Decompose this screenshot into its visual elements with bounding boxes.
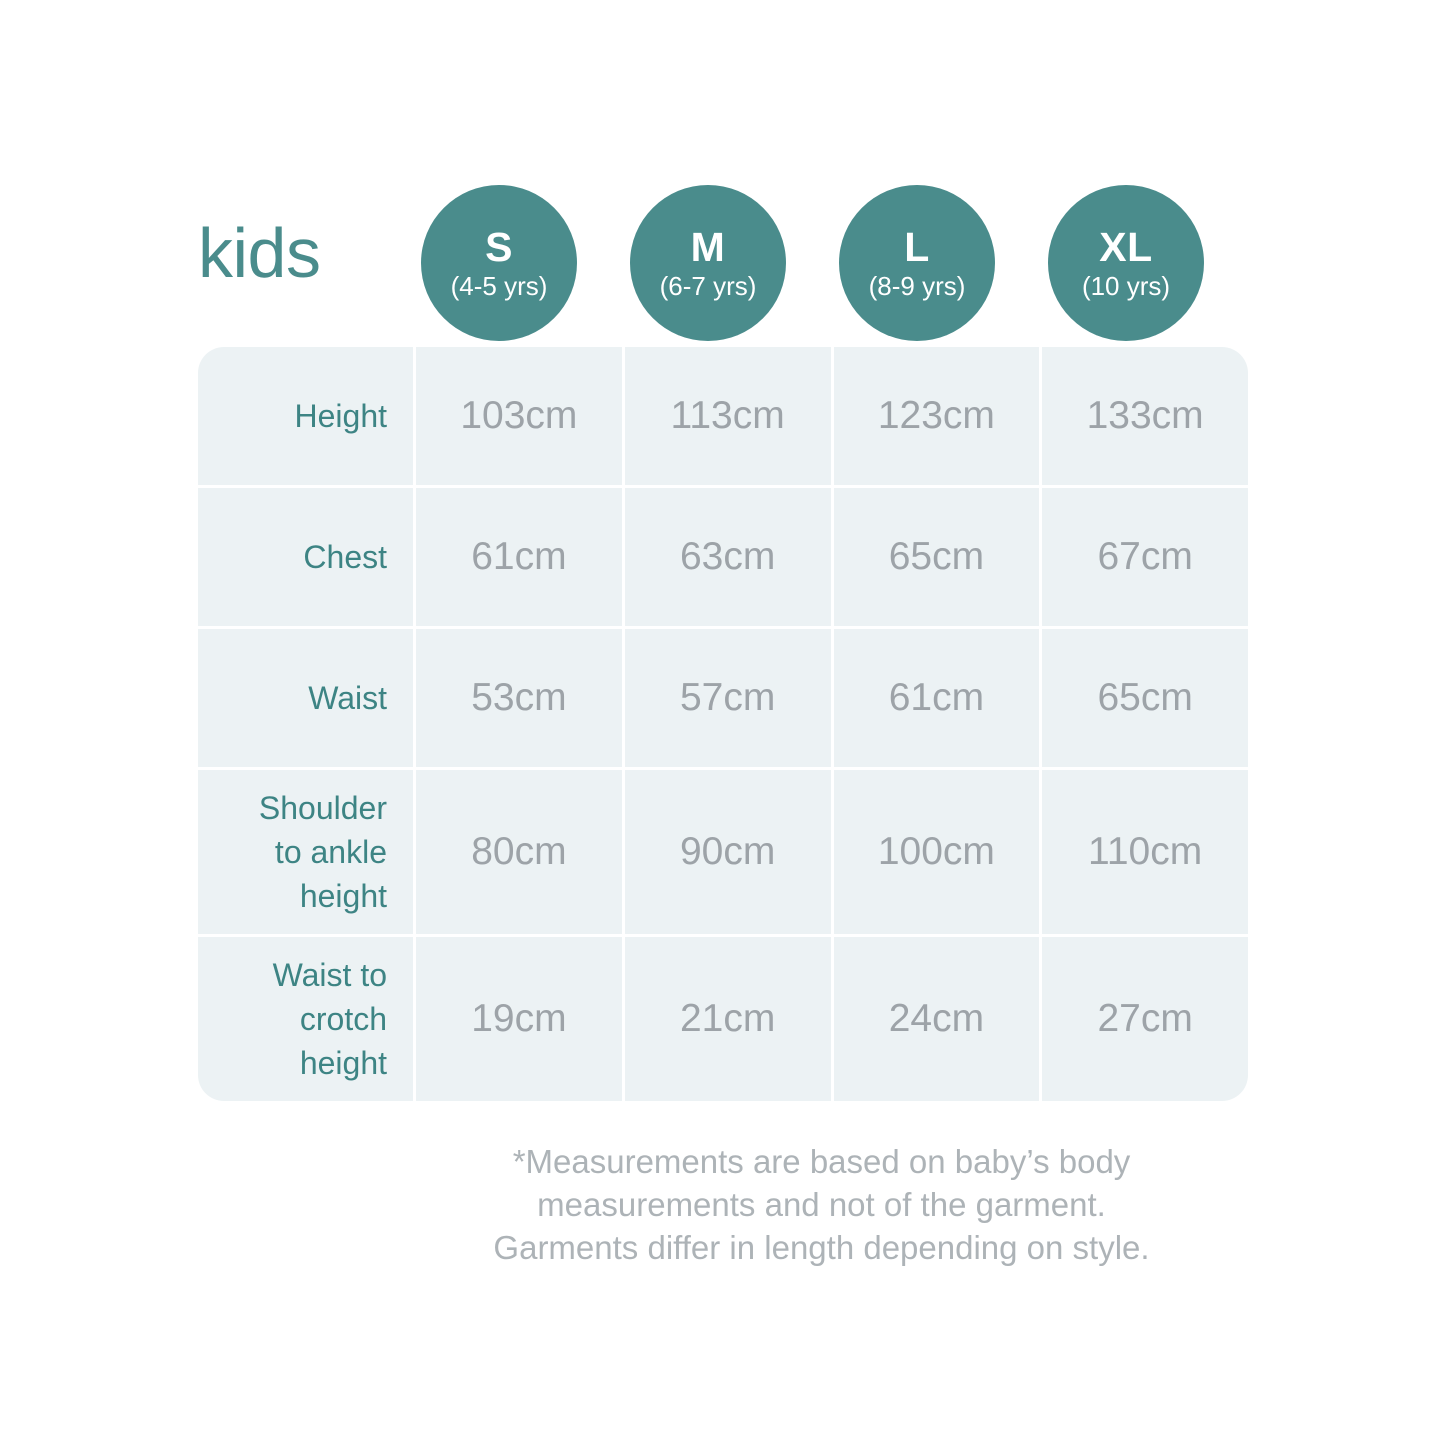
cell-waist-to-crotch-m: 21cm	[625, 937, 831, 1101]
table-row: Shoulder to ankle height 80cm 90cm 100cm…	[198, 770, 1248, 934]
size-chart-header: kids S (4-5 yrs) M (6-7 yrs) L (8-9 yrs)…	[198, 185, 1248, 341]
row-label-line: height	[273, 1041, 387, 1085]
row-label-line: Height	[295, 394, 388, 438]
cell-waist-m: 57cm	[625, 629, 831, 767]
size-chart-sheet: kids S (4-5 yrs) M (6-7 yrs) L (8-9 yrs)…	[0, 0, 1445, 1445]
footnote-line-3: Garments differ in length depending on s…	[395, 1226, 1248, 1269]
size-bubble-m-age: (6-7 yrs)	[660, 270, 757, 302]
row-label-line: to ankle	[259, 830, 387, 874]
row-label-line: crotch	[273, 997, 387, 1041]
page-title: kids	[198, 211, 416, 295]
cell-shoulder-to-ankle-xl: 110cm	[1042, 770, 1248, 934]
row-label-height: Height	[198, 347, 413, 485]
cell-height-l: 123cm	[834, 347, 1040, 485]
row-label-waist-to-crotch-height: Waist to crotch height	[198, 937, 413, 1101]
cell-waist-to-crotch-s: 19cm	[416, 937, 622, 1101]
size-bubble-xl-age: (10 yrs)	[1082, 270, 1170, 302]
cell-waist-xl: 65cm	[1042, 629, 1248, 767]
row-label-line: Shoulder	[259, 786, 387, 830]
cell-chest-l: 65cm	[834, 488, 1040, 626]
measurements-footnote: *Measurements are based on baby’s body m…	[395, 1140, 1248, 1269]
table-row: Waist 53cm 57cm 61cm 65cm	[198, 629, 1248, 767]
size-bubble-l-label: L	[904, 225, 930, 269]
size-bubble-xl-label: XL	[1099, 225, 1152, 269]
size-bubble-xl: XL (10 yrs)	[1048, 185, 1204, 341]
row-label-chest: Chest	[198, 488, 413, 626]
cell-waist-to-crotch-xl: 27cm	[1042, 937, 1248, 1101]
row-label-line: Waist to	[273, 953, 387, 997]
size-bubble-m-label: M	[691, 225, 726, 269]
row-label-waist: Waist	[198, 629, 413, 767]
table-row: Height 103cm 113cm 123cm 133cm	[198, 347, 1248, 485]
footnote-line-2: measurements and not of the garment.	[395, 1183, 1248, 1226]
cell-height-s: 103cm	[416, 347, 622, 485]
cell-waist-l: 61cm	[834, 629, 1040, 767]
cell-waist-to-crotch-l: 24cm	[834, 937, 1040, 1101]
row-label-shoulder-to-ankle-height: Shoulder to ankle height	[198, 770, 413, 934]
cell-waist-s: 53cm	[416, 629, 622, 767]
row-label-line: height	[259, 874, 387, 918]
size-bubble-l: L (8-9 yrs)	[839, 185, 995, 341]
table-row: Chest 61cm 63cm 65cm 67cm	[198, 488, 1248, 626]
row-label-line: Chest	[303, 535, 387, 579]
cell-shoulder-to-ankle-m: 90cm	[625, 770, 831, 934]
row-label-line: Waist	[308, 676, 387, 720]
size-bubble-s-label: S	[485, 225, 513, 269]
size-bubble-m: M (6-7 yrs)	[630, 185, 786, 341]
cell-chest-xl: 67cm	[1042, 488, 1248, 626]
cell-chest-s: 61cm	[416, 488, 622, 626]
size-bubble-l-age: (8-9 yrs)	[869, 270, 966, 302]
footnote-line-1: *Measurements are based on baby’s body	[395, 1140, 1248, 1183]
size-bubble-s-age: (4-5 yrs)	[451, 270, 548, 302]
size-bubble-s: S (4-5 yrs)	[421, 185, 577, 341]
cell-chest-m: 63cm	[625, 488, 831, 626]
cell-shoulder-to-ankle-l: 100cm	[834, 770, 1040, 934]
cell-height-m: 113cm	[625, 347, 831, 485]
table-row: Waist to crotch height 19cm 21cm 24cm 27…	[198, 937, 1248, 1101]
cell-height-xl: 133cm	[1042, 347, 1248, 485]
cell-shoulder-to-ankle-s: 80cm	[416, 770, 622, 934]
measurements-table: Height 103cm 113cm 123cm 133cm Chest 61c…	[198, 347, 1248, 1101]
